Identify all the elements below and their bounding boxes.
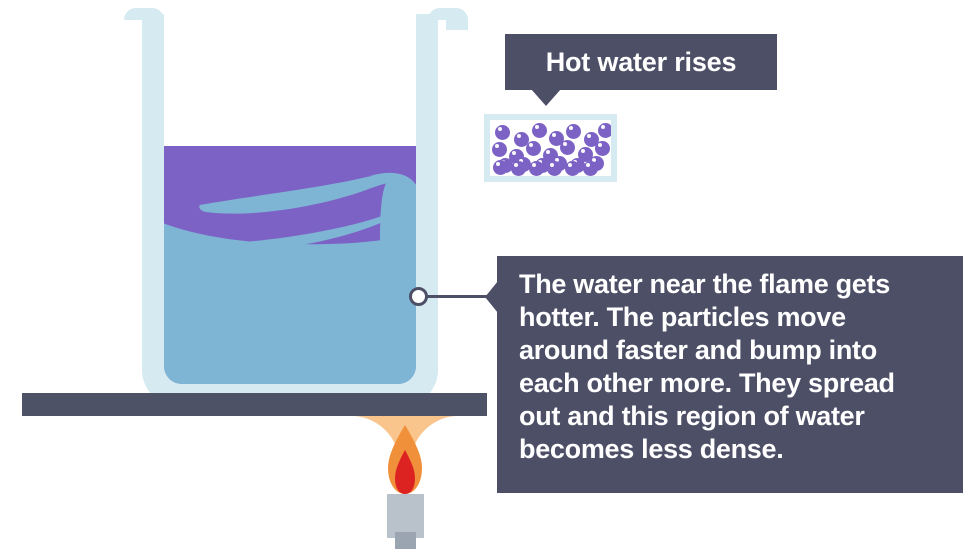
water-particle — [511, 161, 526, 176]
burner-barrel — [387, 494, 424, 538]
tripod-stand — [22, 393, 487, 416]
callout-main-notch — [485, 281, 498, 313]
water-particle — [566, 124, 581, 139]
water-particle — [492, 142, 507, 157]
water-body — [160, 142, 423, 392]
callout-hot-water-rises-label: Hot water rises — [546, 49, 737, 76]
water-particle — [598, 123, 611, 138]
particle-closeup-box — [484, 114, 617, 182]
callout-hot-water-rises-tail — [531, 89, 561, 106]
water-particle — [495, 125, 510, 140]
water-particle — [529, 161, 544, 176]
callout-main-text: The water near the flame gets hotter. Th… — [519, 268, 939, 466]
bunsen-burner — [387, 494, 424, 549]
flame — [352, 416, 458, 494]
burner-stem — [395, 532, 416, 549]
particle-field — [490, 120, 611, 176]
water-particle — [547, 161, 562, 176]
water-particle — [526, 141, 541, 156]
callout-anchor-dot — [409, 287, 428, 306]
water-particle — [583, 161, 598, 176]
callout-hot-water-rises[interactable]: Hot water rises — [505, 34, 777, 90]
diagram-canvas: Hot water rises The water near the flame… — [0, 0, 976, 549]
water-particle — [595, 141, 610, 156]
water-particle — [532, 123, 547, 138]
callout-main[interactable]: The water near the flame gets hotter. Th… — [497, 256, 963, 493]
water-particle — [493, 160, 508, 175]
water-particle — [560, 140, 575, 155]
water-particle — [565, 161, 580, 176]
